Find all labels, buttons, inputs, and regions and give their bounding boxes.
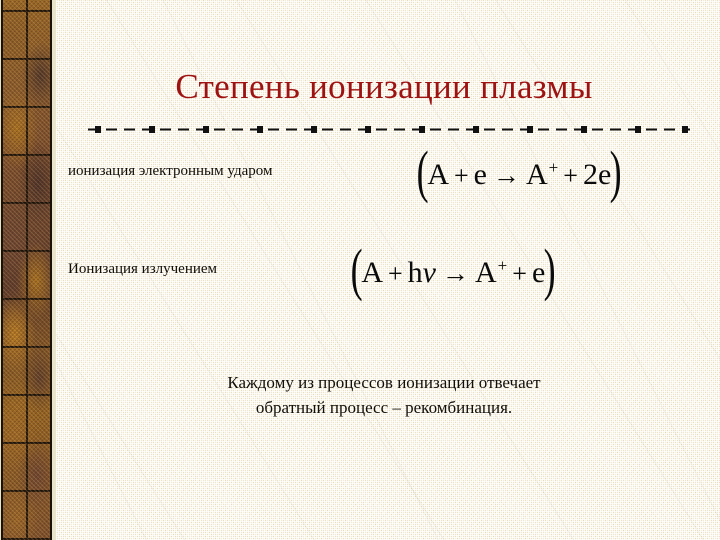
formula2-ion-charge-superscript: + — [497, 256, 508, 275]
formula-term-ion: A — [526, 158, 548, 191]
formula-electron-impact: (A+e→A++2e) — [418, 158, 621, 193]
formula-arrow-icon: → — [487, 160, 526, 190]
formula-operator-plus: + — [449, 161, 474, 190]
formula2-term-planck-h: h — [408, 256, 423, 289]
formula2-term-ion: A — [475, 256, 497, 289]
formula-radiation-ionization: (A+hν→A++e) — [352, 256, 555, 291]
row-label-electron-impact: ионизация электронным ударом — [68, 161, 272, 181]
formula2-term-atom: A — [361, 256, 383, 289]
formula-operator-plus-2: + — [558, 161, 583, 190]
formula2-operator-plus-2: + — [507, 259, 532, 288]
formula-term-two-electrons: 2e — [583, 158, 611, 191]
summary-note-line-2: обратный процесс – рекомбинация. — [56, 395, 712, 420]
left-decorative-border — [0, 0, 56, 540]
page-title: Степень ионизации плазмы — [56, 66, 712, 108]
formula-ion-charge-superscript: + — [548, 158, 559, 177]
summary-note-line-1: Каждому из процессов ионизации отвечает — [56, 370, 712, 395]
formula-term-atom: A — [427, 158, 449, 191]
title-separator-rule — [88, 121, 690, 130]
summary-note: Каждому из процессов ионизации отвечает … — [56, 370, 712, 420]
brick-texture-panel — [1, 0, 52, 540]
formula2-operator-plus: + — [383, 259, 408, 288]
formula2-term-nu: ν — [423, 256, 436, 289]
slide-canvas: Степень ионизации плазмы ионизация элект… — [0, 0, 720, 540]
dash-dot-line-icon — [88, 125, 690, 134]
formula-term-electron: e — [474, 158, 487, 191]
row-label-radiation-ionization: Ионизация излучением — [68, 259, 217, 279]
formula2-arrow-icon: → — [436, 258, 475, 288]
